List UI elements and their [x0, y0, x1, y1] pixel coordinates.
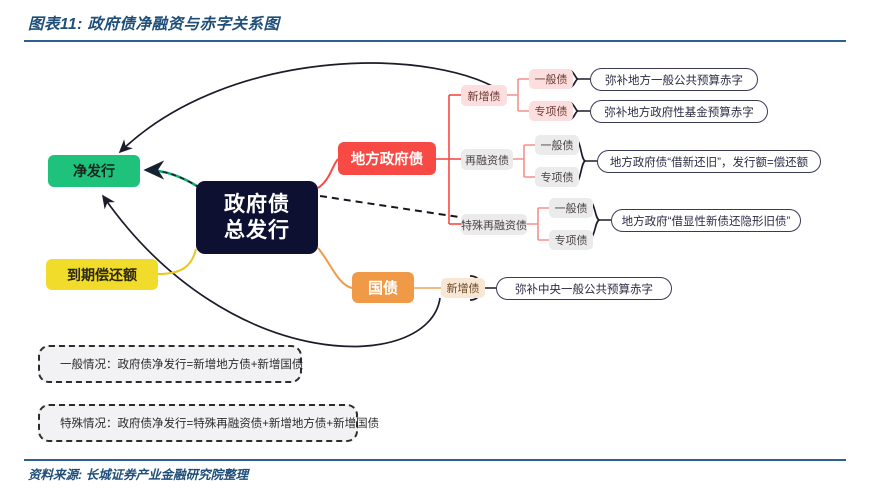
- node-total-issuance-line2: 总发行: [224, 218, 290, 244]
- note-central-general-deficit: 弥补中央一般公共预算赤字: [496, 277, 672, 300]
- node-treasury-bond[interactable]: 国债: [352, 272, 414, 303]
- footer-divider: [24, 459, 846, 461]
- link-maturity-to-center: [158, 249, 196, 274]
- arrow-center-to-net-dash: [146, 170, 200, 188]
- tag-new-bond-treasury[interactable]: 新增债: [441, 278, 485, 298]
- node-net-issuance[interactable]: 净发行: [48, 155, 140, 187]
- diagram-canvas: 图表11: 政府债净融资与赤字关系图: [0, 0, 870, 491]
- summary-normal-case: 一般情况：政府债净发行=新增地方债+新增国债: [38, 345, 302, 383]
- fork-new: [507, 79, 529, 111]
- tag-refi-general-bond[interactable]: 一般债: [535, 135, 579, 155]
- note-local-fund-deficit: 弥补地方政府性基金预算赤字: [590, 100, 768, 123]
- note-refinancing-rollover: 地方政府债“借新还旧”，发行额=偿还额: [597, 150, 821, 173]
- tag-special-refi-general-bond[interactable]: 一般债: [549, 198, 593, 218]
- node-maturity-repayment[interactable]: 到期偿还额: [46, 259, 158, 290]
- fork-refi: [513, 145, 535, 177]
- tag-special-refinancing-bond[interactable]: 特殊再融资债: [461, 214, 527, 235]
- tag-refinancing-bond[interactable]: 再融资债: [461, 149, 513, 170]
- tag-new-general-bond[interactable]: 一般债: [529, 69, 573, 89]
- link-center-to-treasury: [318, 248, 352, 288]
- tag-new-special-bond[interactable]: 专项债: [529, 101, 573, 121]
- tag-special-refi-special-bond[interactable]: 专项债: [549, 230, 593, 250]
- link-center-to-local: [318, 159, 338, 188]
- node-total-issuance[interactable]: 政府债 总发行: [196, 181, 318, 254]
- note-special-refinancing-hidden-debt: 地方政府“借显性新债还隐形旧债”: [611, 209, 801, 232]
- tag-refi-special-bond[interactable]: 专项债: [535, 167, 579, 187]
- source-note: 资料来源: 长城证券产业金融研究院整理: [28, 464, 248, 483]
- summary-special-case: 特殊情况：政府债净发行=特殊再融资债+新增地方债+新增国债: [38, 404, 358, 442]
- arrow-center-to-net: [146, 170, 200, 188]
- node-total-issuance-line1: 政府债: [224, 192, 290, 218]
- fork-special: [527, 208, 549, 240]
- note-local-general-deficit: 弥补地方一般公共预算赤字: [590, 68, 758, 91]
- node-local-government-bond[interactable]: 地方政府债: [338, 142, 436, 175]
- tag-new-bond-local[interactable]: 新增债: [461, 85, 507, 106]
